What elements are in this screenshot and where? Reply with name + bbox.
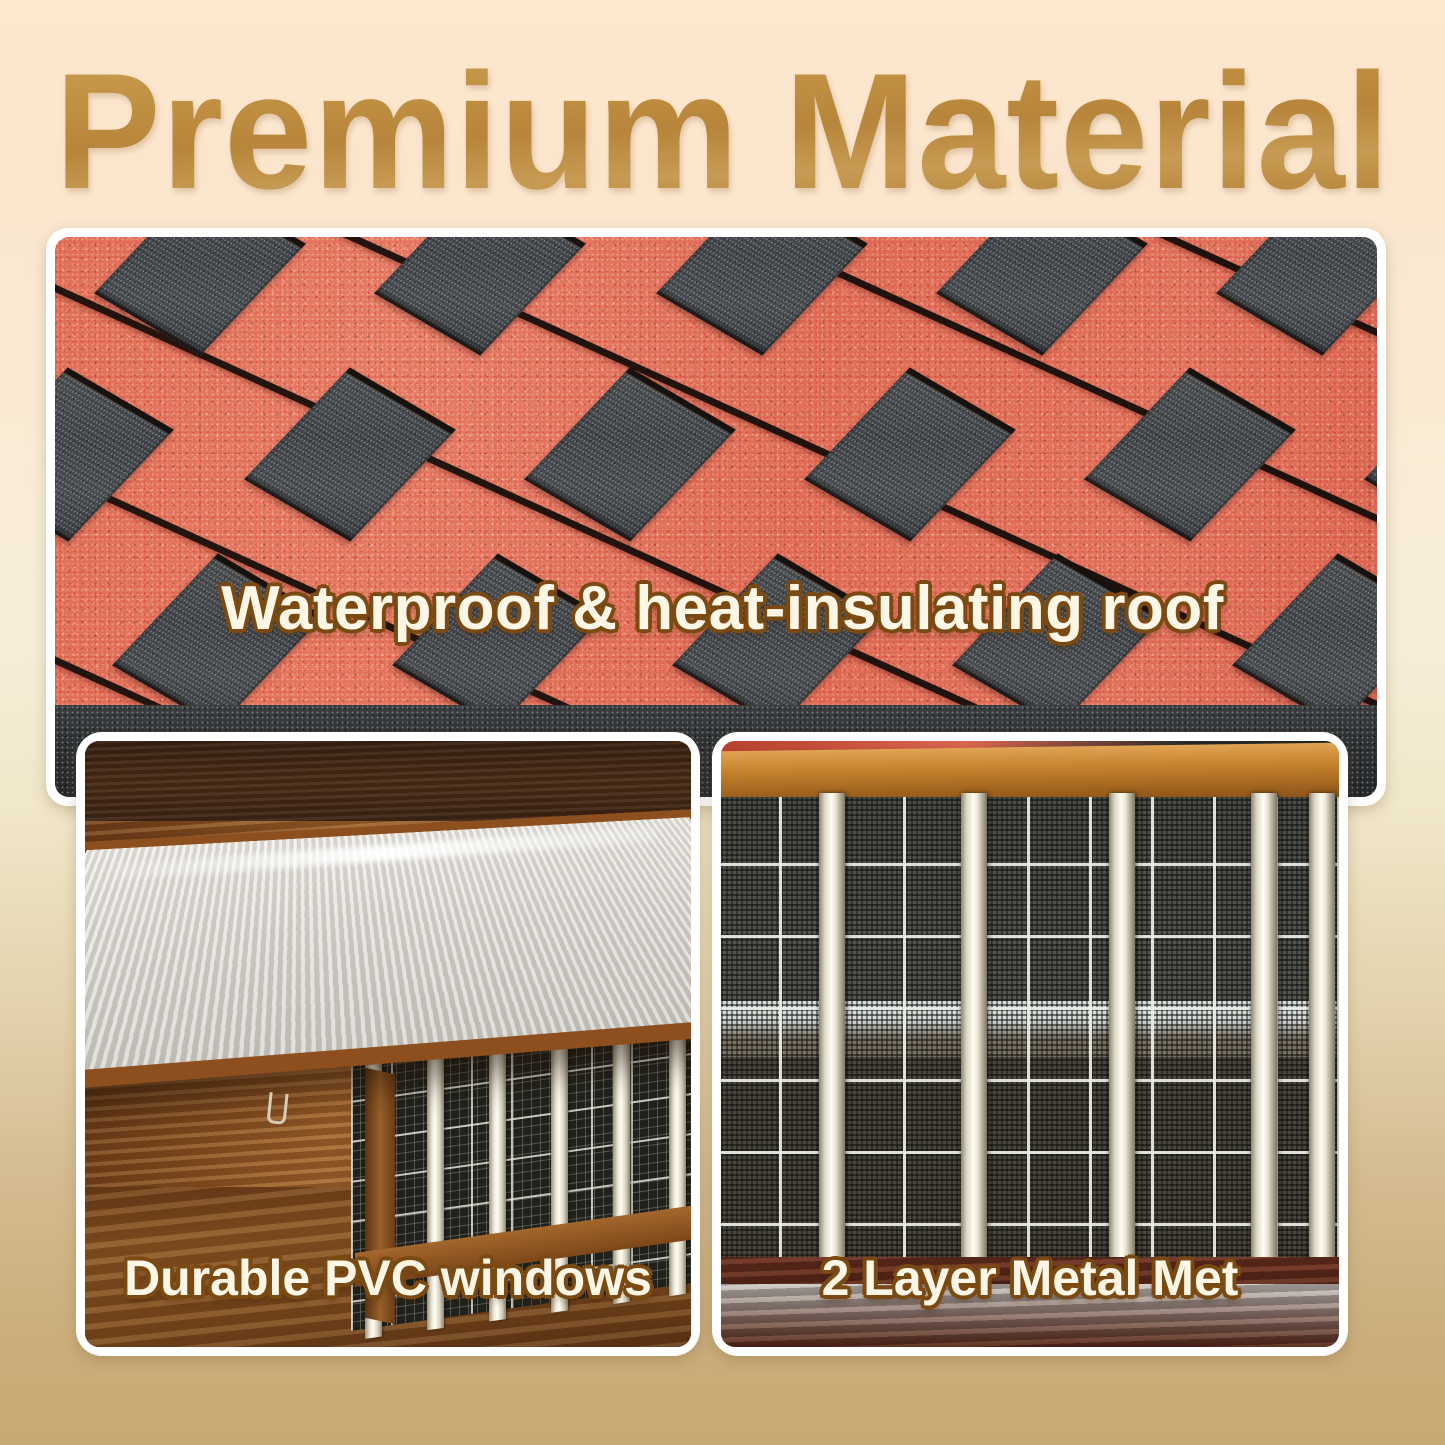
caption-roof: Waterproof & heat-insulating roof: [0, 573, 1445, 644]
roof-shingle-tab: [94, 237, 306, 356]
mesh-vertical-bar: [1109, 793, 1135, 1265]
roof-shingle-tab: [936, 237, 1148, 356]
page-title: Premium Material: [55, 49, 1391, 214]
caption-metal-mesh: 2 Layer Metal Met: [712, 1249, 1348, 1307]
roof-shingle-tab: [804, 367, 1016, 541]
feature-card-roof: [46, 228, 1386, 806]
product-feature-poster: Premium Material Waterproof & heat-insul…: [0, 0, 1445, 1445]
mesh-vertical-bar: [819, 793, 845, 1265]
pvc-latch-hook-icon: [266, 1092, 288, 1125]
mesh-wood-rail: [721, 743, 1339, 806]
mesh-vertical-bar: [1251, 793, 1277, 1265]
roof-shingle-tab: [1216, 237, 1377, 356]
roof-shingle-tab: [1084, 367, 1296, 541]
mesh-vertical-bar: [961, 793, 987, 1265]
mesh-coarse-layer: [721, 797, 1339, 1261]
roof-shingle-tab: [244, 367, 456, 541]
roof-image-frame: [55, 237, 1377, 797]
caption-pvc-window: Durable PVC windows: [76, 1249, 700, 1307]
roof-shingle-tab: [656, 237, 868, 356]
page-title-container: Premium Material: [0, 46, 1445, 216]
roof-shingle-image: [55, 237, 1377, 797]
mesh-vertical-bar: [1309, 793, 1335, 1265]
mesh-panel-body: [721, 797, 1339, 1261]
roof-shingle-tab: [374, 237, 586, 356]
